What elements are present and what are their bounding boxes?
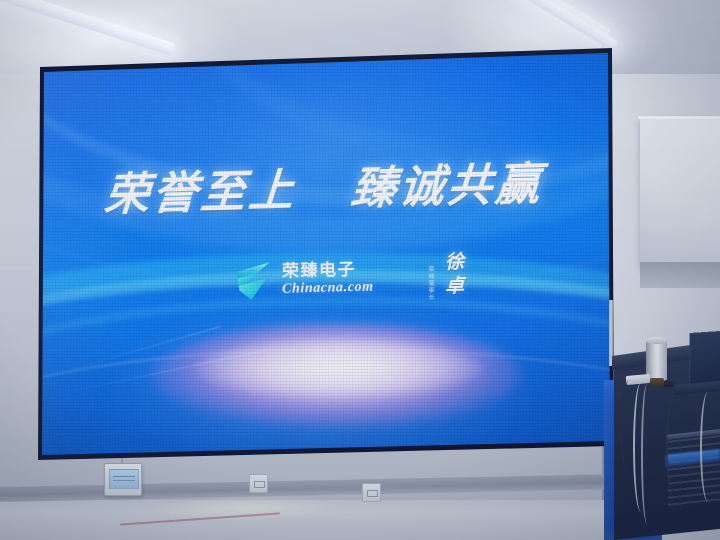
power-adapter-2	[650, 378, 664, 386]
speaker-cylinder-top	[646, 337, 667, 344]
cable-5	[700, 392, 716, 502]
cable-3	[620, 380, 640, 475]
power-adapter-3	[664, 380, 674, 387]
screen-surface[interactable]: 荣誉至上 臻诚共赢	[34, 48, 614, 460]
screen-sheen	[34, 48, 614, 460]
cable-2	[641, 384, 653, 524]
room-photo-scene: 荣誉至上 臻诚共赢	[0, 0, 720, 540]
cable-4	[666, 386, 690, 506]
